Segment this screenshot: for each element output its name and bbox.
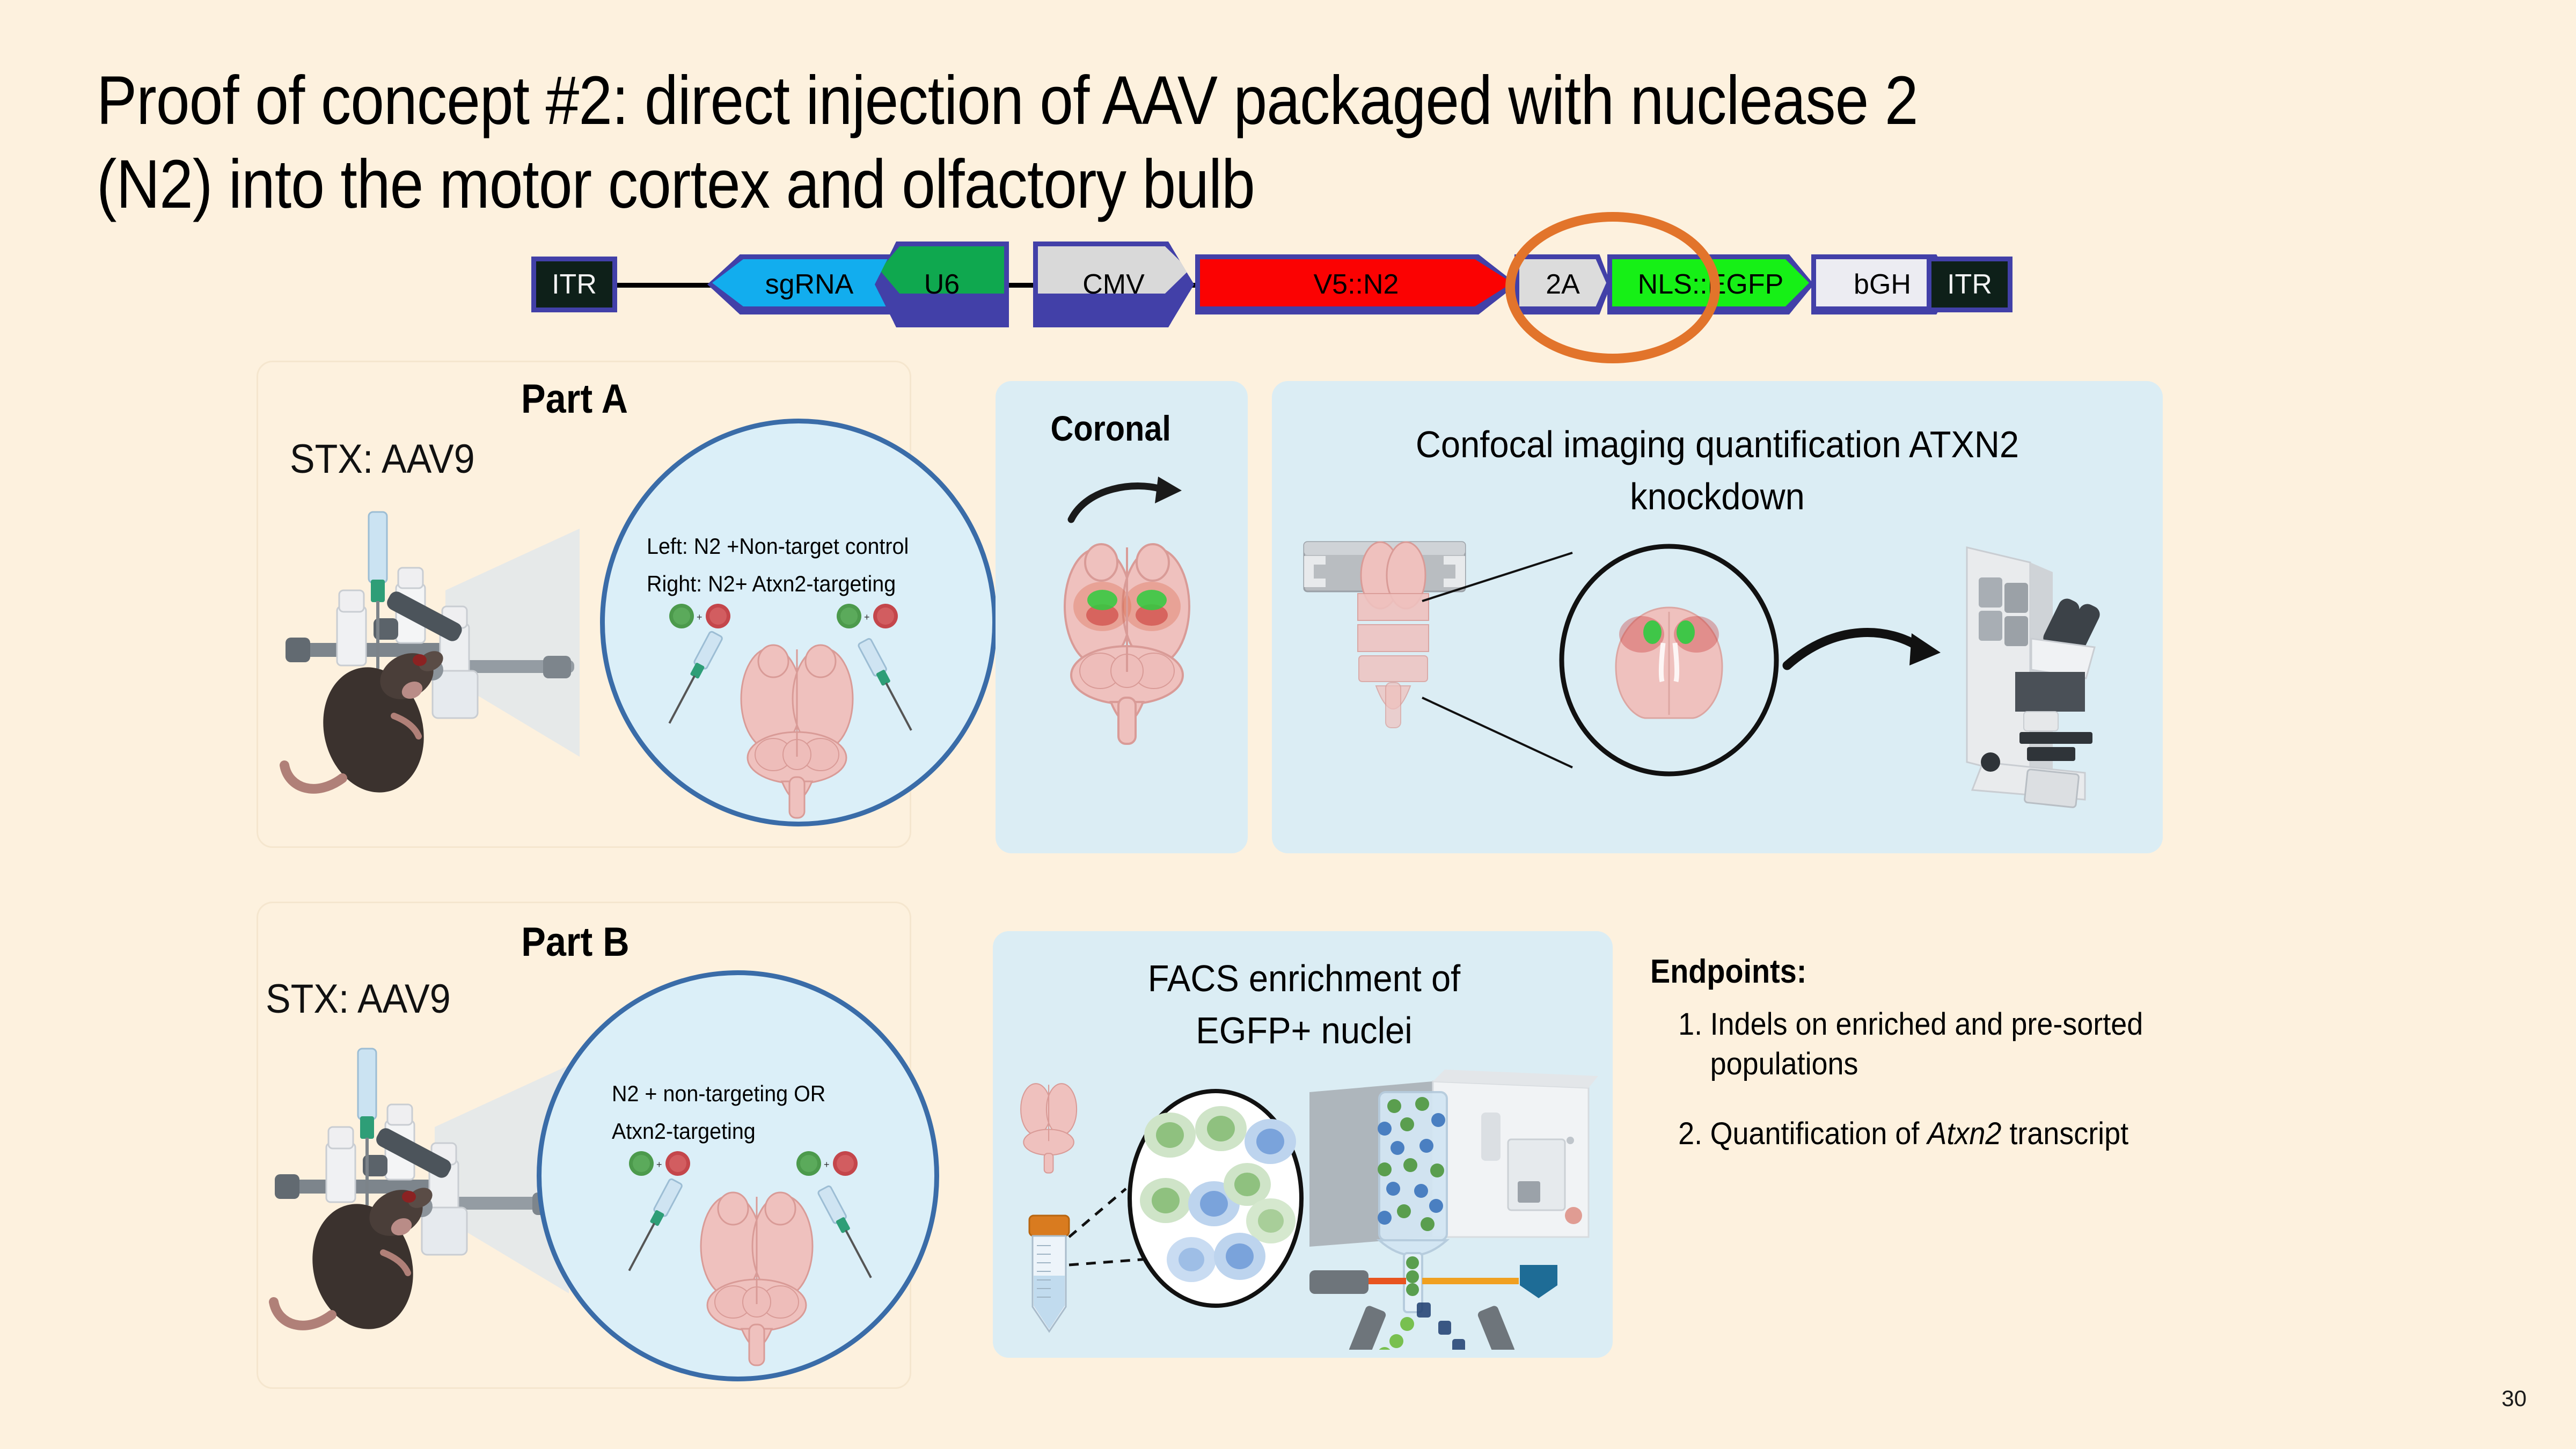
itr-left-label: ITR: [548, 268, 600, 301]
part-a-brain-injection-illustration: + +: [649, 601, 955, 826]
u6-label: U6: [921, 268, 963, 301]
confocal-heading-line-1: Confocal imaging quantification ATXN2: [1318, 419, 2117, 471]
egfp-highlight-circle: [1505, 212, 1720, 363]
facs-illustration: [1009, 1060, 1605, 1350]
v5n2-label: V5::N2: [1311, 268, 1402, 301]
cmv-label: CMV: [1079, 268, 1148, 301]
endpoint-item-2: 2. Quantification of Atxn2 transcript: [1650, 1114, 2175, 1154]
construct-element-itr-left: ITR: [531, 244, 617, 325]
coronal-heading: Coronal: [1050, 408, 1170, 449]
facs-heading-line-1: FACS enrichment of: [1024, 953, 1584, 1005]
endpoints-section: Endpoints: 1. Indels on enriched and pre…: [1650, 953, 2214, 1184]
endpoint-2-text-before: Quantification of: [1710, 1116, 1928, 1151]
endpoint-1-number: 1.: [1650, 1005, 1710, 1084]
facs-heading: FACS enrichment of EGFP+ nuclei: [1024, 953, 1584, 1056]
confocal-heading-line-2: knockdown: [1318, 471, 2117, 523]
construct-element-itr-right: ITR: [1927, 244, 2012, 325]
svg-text:+: +: [824, 1159, 830, 1170]
endpoint-2-gene-name: Atxn2: [1927, 1116, 2001, 1151]
part-a-stereotaxic-mouse-illustration: [279, 499, 590, 800]
slide-number: 30: [2501, 1386, 2527, 1411]
facs-heading-line-2: EGFP+ nuclei: [1024, 1005, 1584, 1057]
construct-element-v5n2: V5::N2: [1195, 244, 1517, 325]
endpoint-2-text: Quantification of Atxn2 transcript: [1710, 1114, 2175, 1154]
part-b-title: Part B: [521, 919, 629, 965]
endpoint-item-1: 1. Indels on enriched and pre-sorted pop…: [1650, 1005, 2175, 1084]
itr-right-label: ITR: [1944, 268, 1995, 301]
page-title: Proof of concept #2: direct injection of…: [97, 59, 2137, 226]
endpoint-1-text: Indels on enriched and pre-sorted popula…: [1710, 1005, 2175, 1084]
title-line-1: Proof of concept #2: direct injection of…: [97, 59, 2137, 143]
svg-text:+: +: [697, 612, 702, 623]
confocal-panel-illustration: [1299, 537, 2147, 837]
part-a-bubble-line-2: Right: N2+ Atxn2-targeting: [647, 566, 896, 601]
title-line-2: (N2) into the motor cortex and olfactory…: [97, 143, 2137, 226]
bgh-label: bGH: [1850, 268, 1914, 301]
construct-element-u6: U6: [875, 244, 1009, 325]
endpoint-2-number: 2.: [1650, 1114, 1710, 1154]
svg-text:+: +: [656, 1159, 662, 1170]
part-a-stx-label: STX: AAV9: [290, 436, 475, 482]
endpoint-2-text-after: transcript: [2001, 1116, 2128, 1151]
sgrna-label: sgRNA: [762, 268, 857, 301]
part-b-bubble-line-2: Atxn2-targeting: [612, 1114, 756, 1148]
part-b-brain-injection-illustration: + +: [609, 1148, 915, 1374]
endpoints-list: 1. Indels on enriched and pre-sorted pop…: [1650, 1005, 2214, 1154]
svg-text:+: +: [864, 612, 870, 623]
coronal-panel-illustration: [1036, 456, 1218, 832]
part-b-stx-label: STX: AAV9: [266, 976, 451, 1022]
construct-element-cmv: CMV: [1033, 244, 1194, 325]
part-a-bubble-line-1: Left: N2 +Non-target control: [647, 529, 909, 563]
part-a-title: Part A: [521, 376, 628, 422]
part-b-stereotaxic-mouse-illustration: [268, 1036, 580, 1336]
aav-construct-diagram: ITR sgRNA U6 CMV V5::N2: [531, 244, 2012, 325]
confocal-heading: Confocal imaging quantification ATXN2 kn…: [1318, 419, 2117, 522]
part-b-bubble-line-1: N2 + non-targeting OR: [612, 1076, 825, 1111]
endpoints-heading: Endpoints:: [1650, 953, 2157, 991]
